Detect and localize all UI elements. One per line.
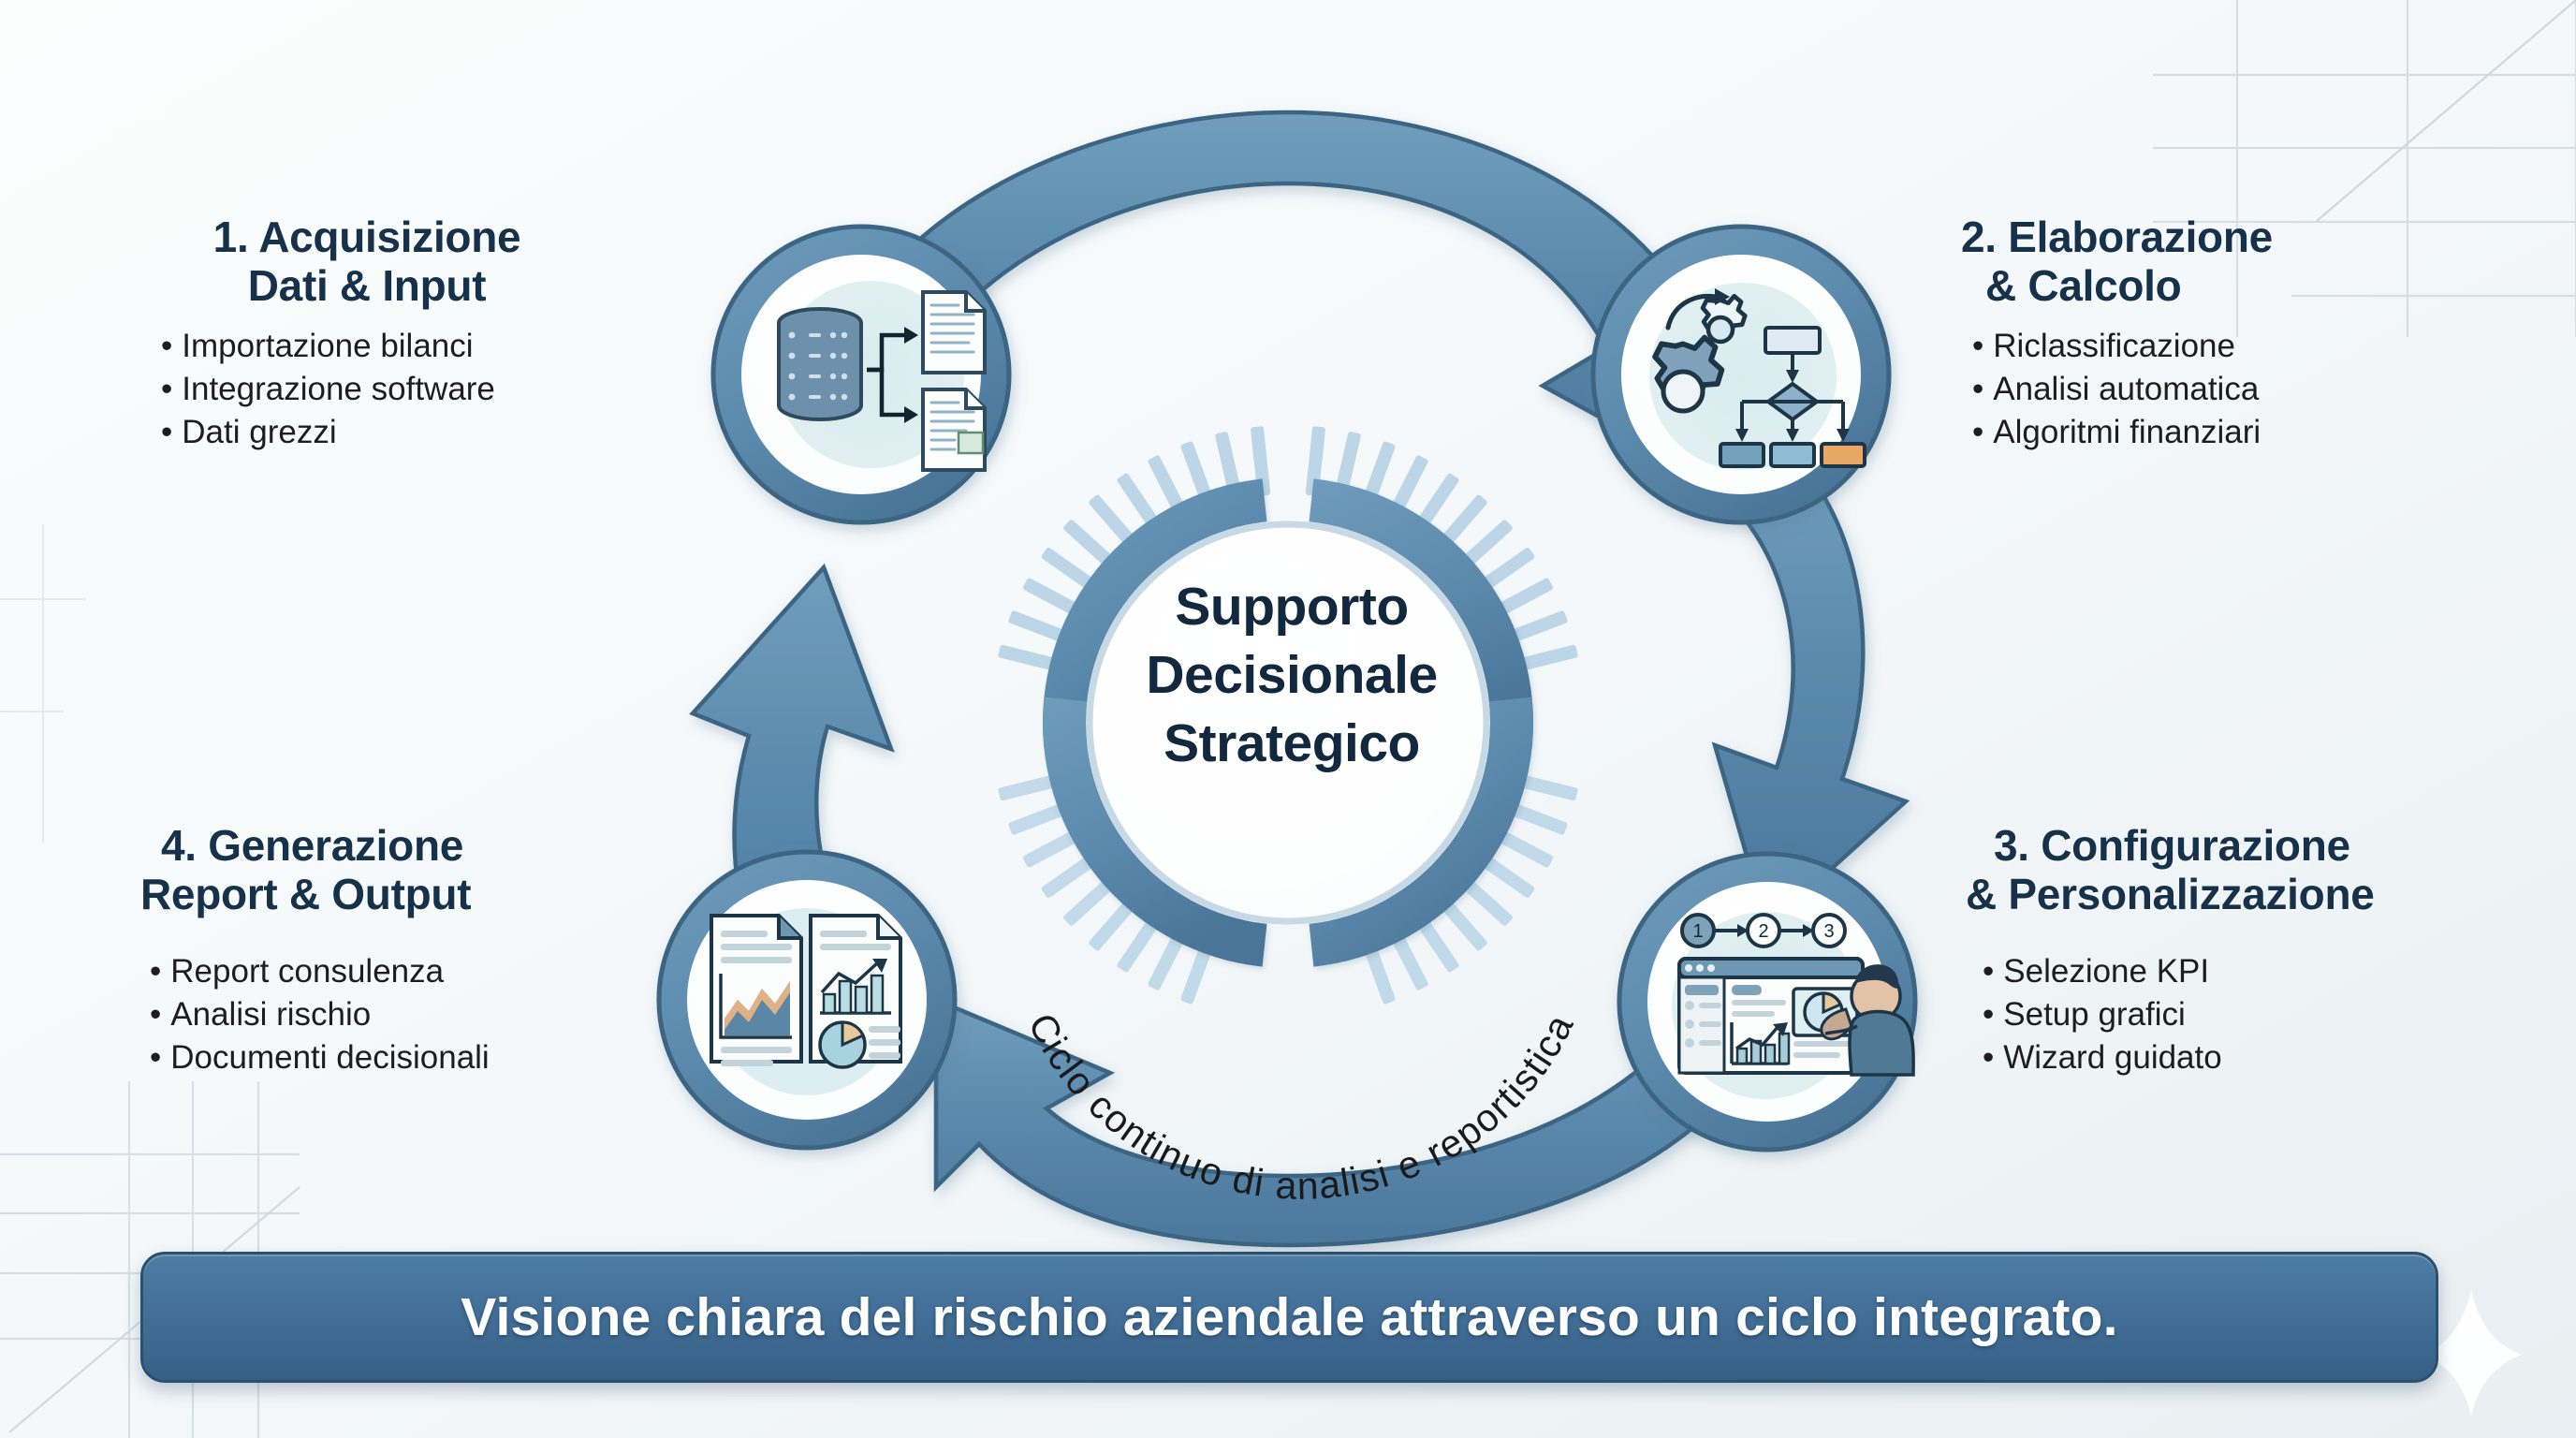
list-item: •Dati grezzi	[161, 411, 592, 454]
list-item: •Riclassificazione	[1972, 325, 2485, 368]
step-2-title: 2. Elaborazione & Calcolo	[1961, 213, 2485, 310]
bullet-glyph: •	[1983, 1039, 1994, 1076]
step-1-bullet-list: •Importazione bilanci •Integrazione soft…	[142, 325, 592, 455]
node-step-2[interactable]	[1593, 227, 1889, 522]
center-hub-label: Supporto Decisionale Strategico	[1086, 573, 1498, 778]
summary-banner-text: Visione chiara del rischio aziendale att…	[461, 1286, 2117, 1348]
step-4-text-block: 4. Generazione Report & Output •Report c…	[140, 822, 665, 1080]
bullet-glyph: •	[150, 996, 161, 1033]
list-item: •Setup grafici	[1983, 993, 2527, 1036]
bullet-glyph: •	[161, 328, 172, 364]
bullet-glyph: •	[150, 953, 161, 990]
wizard-step-badges: 1 2 3	[1682, 915, 1845, 946]
bullet-glyph: •	[1983, 953, 1994, 990]
list-item: •Analisi rischio	[150, 993, 665, 1036]
bullet-glyph: •	[1972, 414, 1983, 450]
hub-line-1: Supporto	[1086, 573, 1498, 641]
node-step-4[interactable]	[659, 852, 955, 1148]
wizard-step-1-label: 1	[1692, 921, 1703, 942]
step-4-bullet-list: •Report consulenza •Analisi rischio •Doc…	[140, 950, 665, 1080]
wizard-step-2-label: 2	[1758, 921, 1768, 942]
list-item: •Report consulenza	[150, 950, 665, 993]
list-item: •Selezione KPI	[1983, 950, 2527, 993]
step-2-bullet-list: •Riclassificazione •Analisi automatica •…	[1961, 325, 2485, 455]
step-3-title: 3. Configurazione & Personalizzazione	[1966, 822, 2527, 918]
wizard-step-3-label: 3	[1823, 921, 1834, 942]
list-item: •Documenti decisionali	[150, 1036, 665, 1079]
list-item: •Importazione bilanci	[161, 325, 592, 368]
bullet-glyph: •	[161, 371, 172, 407]
summary-banner: Visione chiara del rischio aziendale att…	[140, 1252, 2438, 1383]
step-2-text-block: 2. Elaborazione & Calcolo •Riclassificaz…	[1961, 213, 2485, 455]
step-3-text-block: 3. Configurazione & Personalizzazione •S…	[1966, 822, 2527, 1080]
bullet-glyph: •	[161, 414, 172, 450]
list-item: •Algoritmi finanziari	[1972, 411, 2485, 454]
step-1-title: 1. Acquisizione Dati & Input	[142, 213, 592, 310]
bullet-glyph: •	[1983, 996, 1994, 1033]
step-3-bullet-list: •Selezione KPI •Setup grafici •Wizard gu…	[1966, 950, 2527, 1080]
list-item: •Analisi automatica	[1972, 368, 2485, 411]
bullet-glyph: •	[150, 1039, 161, 1076]
node-step-1[interactable]	[713, 227, 1009, 522]
node-step-3[interactable]: 1 2 3	[1619, 854, 1915, 1150]
list-item: •Integrazione software	[161, 368, 592, 411]
bullet-glyph: •	[1972, 328, 1983, 364]
list-item: •Wizard guidato	[1983, 1036, 2527, 1079]
hub-line-2: Decisionale	[1086, 641, 1498, 710]
bullet-glyph: •	[1972, 371, 1983, 407]
step-1-text-block: 1. Acquisizione Dati & Input •Importazio…	[142, 213, 592, 455]
hub-line-3: Strategico	[1086, 710, 1498, 778]
step-4-title: 4. Generazione Report & Output	[140, 822, 665, 918]
